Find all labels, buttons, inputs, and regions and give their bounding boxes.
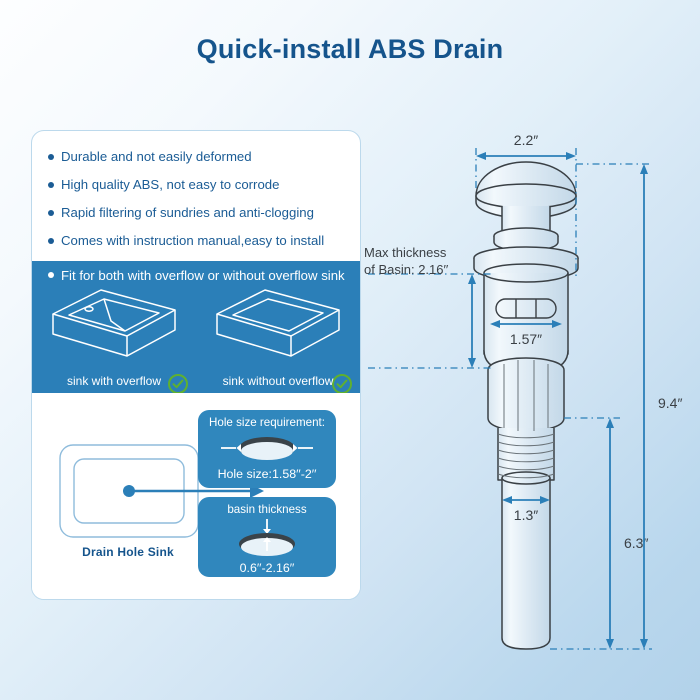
bullet-text: Durable and not easily deformed [61, 143, 252, 171]
sink-without-overflow-icon [203, 284, 353, 368]
body-width-dim: 1.57″ [510, 331, 542, 347]
bullet-text: Comes with instruction manual,easy to in… [61, 227, 324, 255]
drain-hole-section: Drain Hole Sink Hole size requirement: H… [32, 393, 360, 600]
bullet-dot-icon [48, 182, 54, 188]
sink-with-overflow-icon [39, 284, 189, 368]
max-basin-thickness-label: Max thickness of Basin: 2.16′′ [364, 244, 482, 278]
basin-thickness-icon [207, 517, 327, 559]
basin-thickness-badge: basin thickness 0.6′′-2.16′′ [198, 497, 336, 577]
sink-caption: sink without overflow [196, 374, 360, 388]
bullet-dot-icon [48, 210, 54, 216]
bullet-text: Rapid filtering of sundries and anti-clo… [61, 199, 314, 227]
infographic-canvas: Quick-install ABS Drain Durable and not … [0, 0, 700, 700]
list-item: Rapid filtering of sundries and anti-clo… [32, 199, 360, 227]
total-height-dim: 9.4″ [658, 395, 682, 411]
drain-technical-drawing: 2.2″ 1.57″ 1.3″ [352, 118, 700, 678]
drain-assembly-drawing: 2.2″ 1.57″ 1.3″ [352, 118, 700, 678]
features-card: Durable and not easily deformed High qua… [31, 130, 361, 600]
hole-size-value: Hole size:1.58′′-2′′ [198, 467, 336, 481]
bullet-dot-icon [48, 272, 54, 278]
basin-thickness-title: basin thickness [198, 503, 336, 517]
hole-size-title: Hole size requirement: [198, 416, 336, 430]
sink-without-overflow-figure: sink without overflow [196, 280, 360, 393]
bullet-dot-icon [48, 238, 54, 244]
feature-bullet-list: Durable and not easily deformed High qua… [32, 131, 360, 291]
basin-thickness-value: 0.6′′-2.16′′ [198, 561, 336, 575]
sink-caption: sink with overflow [32, 374, 196, 388]
cap-width-dim: 2.2″ [514, 132, 538, 148]
sink-with-overflow-figure: sink with overflow [32, 280, 196, 393]
tail-width-dim: 1.3″ [514, 507, 538, 523]
page-title: Quick-install ABS Drain [0, 34, 700, 65]
drain-hole-sink-label: Drain Hole Sink [58, 545, 198, 559]
sink-comparison-panel: sink with overflow [32, 280, 360, 393]
list-item: Comes with instruction manual,easy to in… [32, 227, 360, 255]
hole-size-icon [207, 431, 327, 465]
bullet-dot-icon [48, 154, 54, 160]
list-item: High quality ABS, not easy to corrode [32, 171, 360, 199]
list-item: Durable and not easily deformed [32, 143, 360, 171]
bullet-text: High quality ABS, not easy to corrode [61, 171, 279, 199]
hole-size-badge: Hole size requirement: Hole size:1.58′′-… [198, 410, 336, 488]
